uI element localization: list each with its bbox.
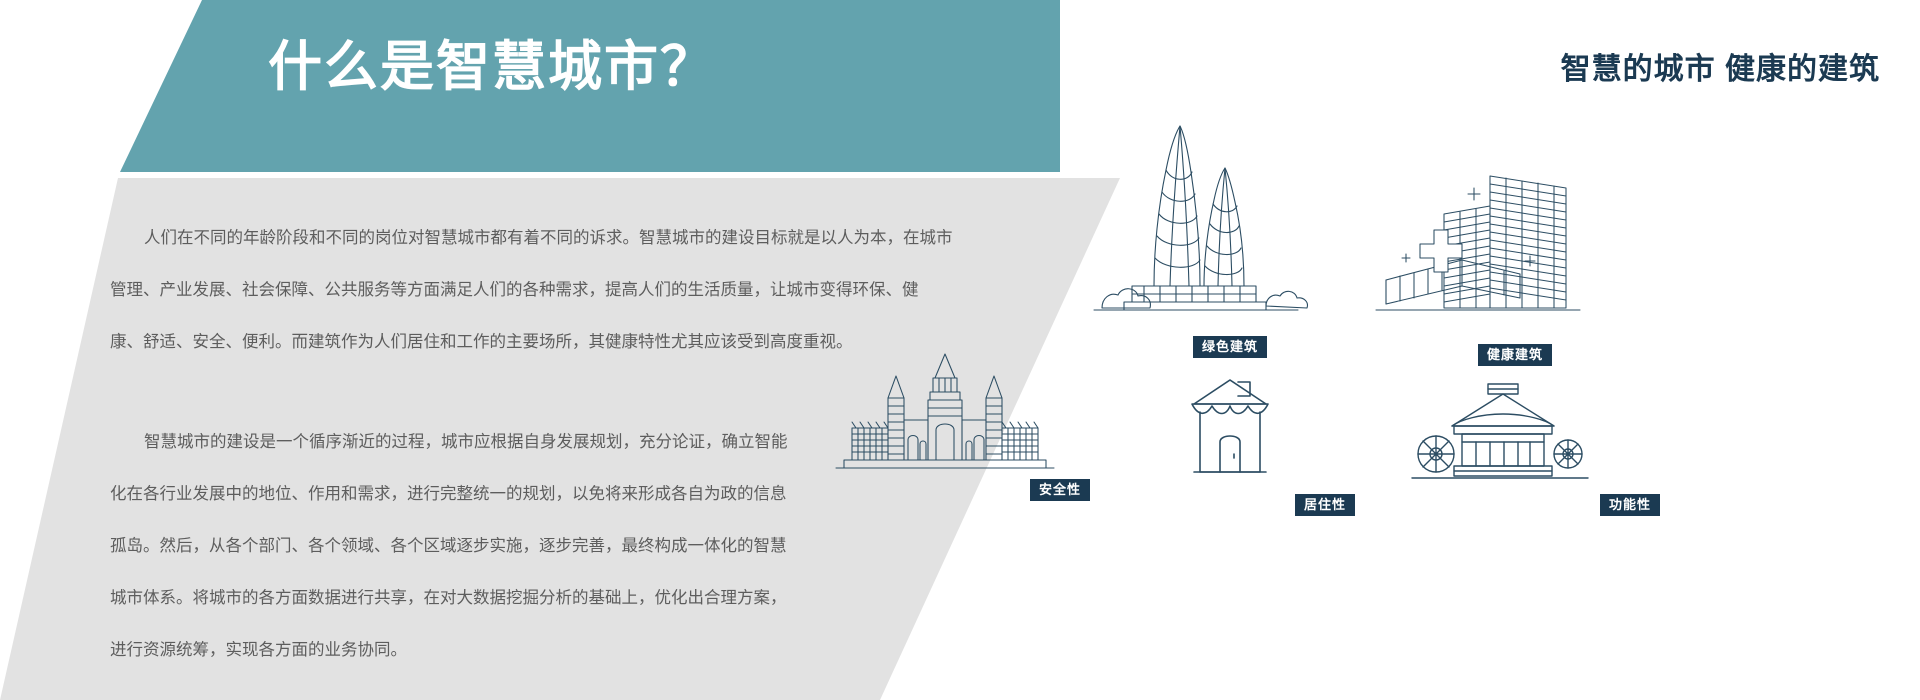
pavilion-hall-icon [1410,368,1850,488]
body-copy: 人们在不同的年龄阶段和不同的岗位对智慧城市都有着不同的诉求。智慧城市的建设目标就… [110,212,910,676]
illustration-health-building: 健康建筑 [1370,158,1660,366]
paragraph-1-line-2: 管理、产业发展、社会保障、公共服务等方面满足人们的各种需求，提高人们的生活质量，… [110,264,910,316]
paragraph-2: 智慧城市的建设是一个循序渐近的过程，城市应根据自身发展规划，充分论证，确立智能 … [110,416,910,676]
label-wrap-functionality: 功能性 [1410,494,1850,516]
infographic-slide: 什么是智慧城市？ 智慧的城市 健康的建筑 人们在不同的年龄阶段和不同的岗位对智慧… [0,0,1920,700]
paragraph-2-line-5: 进行资源统筹，实现各方面的业务协同。 [110,624,910,676]
hospital-building-icon [1370,158,1660,338]
illustration-green-building: 绿色建筑 [1080,100,1380,358]
illustration-label: 居住性 [1295,494,1355,516]
twin-towers-skyscraper-icon [1080,100,1380,330]
label-wrap-health-building: 健康建筑 [1370,344,1660,366]
paragraph-1-line-3: 康、舒适、安全、便利。而建筑作为人们居住和工作的主要场所，其健康特性尤其应该受到… [110,316,910,368]
illustration-label: 健康建筑 [1478,344,1552,366]
illustration-label: 功能性 [1600,494,1660,516]
paragraph-2-line-2: 化在各行业发展中的地位、作用和需求，进行完整统一的规划，以免将来形成各自为政的信… [110,468,910,520]
illustration-group: 绿色建筑 [1120,90,1910,630]
page-title: 什么是智慧城市？ [268,40,716,94]
paragraph-1-line-1: 人们在不同的年龄阶段和不同的岗位对智慧城市都有着不同的诉求。智慧城市的建设目标就… [110,212,910,264]
illustration-label: 安全性 [1030,479,1090,501]
illustration-functionality: 功能性 [1410,368,1850,516]
paragraph-2-line-1: 智慧城市的建设是一个循序渐近的过程，城市应根据自身发展规划，充分论证，确立智能 [110,416,910,468]
paragraph-1: 人们在不同的年龄阶段和不同的岗位对智慧城市都有着不同的诉求。智慧城市的建设目标就… [110,212,910,368]
tagline-heading: 智慧的城市 健康的建筑 [1561,44,1880,88]
paragraph-2-line-4: 城市体系。将城市的各方面数据进行共享，在对大数据挖掘分析的基础上，优化出合理方案… [110,572,910,624]
paragraph-2-line-3: 孤岛。然后，从各个部门、各个领域、各个区域逐步实施，逐步完善，最终构成一体化的智… [110,520,910,572]
